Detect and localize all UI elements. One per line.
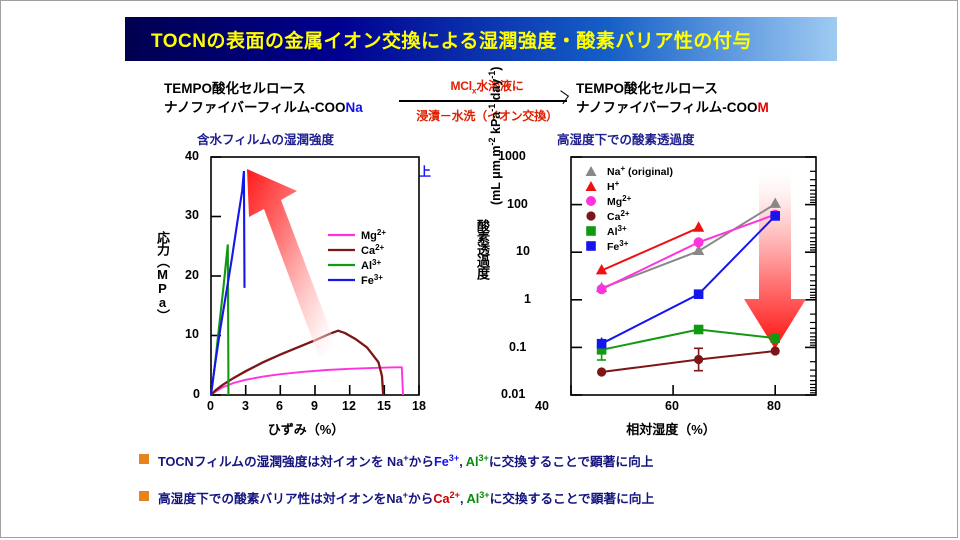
bullet-1-text: TOCNフィルムの湿潤強度は対イオンを Na+からFe3+, Al3+に交換する… (158, 451, 653, 470)
oxygen-xtick-60: 60 (665, 399, 679, 413)
wet-strength-ytick-20: 20 (185, 268, 199, 282)
wet-strength-xtick-12: 12 (342, 399, 356, 413)
bullet-2-ion2: Al (467, 492, 480, 506)
oxygen-ytick-10: 10 (516, 244, 530, 258)
wet-strength-chart-heading: 含水フィルムの湿潤強度 (197, 129, 334, 148)
bullet-1-ion1: Fe (434, 455, 449, 469)
bullet-1-pre: TOCNフィルムの湿潤強度は対イオンを Na (158, 455, 403, 469)
bullet-2-pre: 高湿度下での酸素バリア性は対イオンをNa (158, 492, 403, 506)
bullet-1-ion2-sup: 3+ (478, 453, 488, 463)
bullet-item-1: TOCNフィルムの湿潤強度は対イオンを Na+からFe3+, Al3+に交換する… (139, 451, 653, 470)
scheme-product-line2: ナノファイバーフィルム-COOM (576, 98, 769, 117)
wet-strength-xtick-9: 9 (311, 399, 318, 413)
bullet-1-mid: から (409, 455, 434, 469)
bullet-2-mid: から (408, 492, 433, 506)
wet-strength-xtick-3: 3 (242, 399, 249, 413)
legend-label-na: Na+ (original) (607, 164, 673, 178)
oxygen-ytick-0.01: 0.01 (501, 387, 525, 401)
oxygen-ytick-0.1: 0.1 (509, 340, 526, 354)
bullet-square-icon (139, 454, 149, 464)
bullet-1-sep: , (459, 455, 466, 469)
bullet-item-2: 高湿度下での酸素バリア性は対イオンをNa+からCa2+, Al3+に交換すること… (139, 488, 654, 507)
bullet-2-ion1-sup: 2+ (450, 490, 460, 500)
oxygen-x-axis-title: 相対湿度（%） (571, 419, 771, 438)
wet-strength-ytick-40: 40 (185, 149, 199, 163)
bullet-square-icon (139, 491, 149, 501)
wet-strength-xtick-6: 6 (276, 399, 283, 413)
oxygen-permeability-chart: Na+ (original) H+ Mg2+ Ca2+ Al3+ Fe3+ (531, 147, 831, 417)
wet-strength-xtick-18: 18 (412, 399, 426, 413)
bullet-1-post: に交換することで顕著に向上 (489, 455, 654, 469)
wet-strength-ytick-30: 30 (185, 208, 199, 222)
wet-strength-x-axis-title: ひずみ（%） (206, 419, 406, 438)
wet-strength-ytick-10: 10 (185, 327, 199, 341)
bullet-1-ion2: Al (466, 455, 479, 469)
bullet-2-ion1: Ca (433, 492, 449, 506)
bullet-2-text: 高湿度下での酸素バリア性は対イオンをNa+からCa2+, Al3+に交換すること… (158, 488, 654, 507)
oxygen-ytick-100: 100 (507, 197, 528, 211)
scheme-product-line1: TEMPO酸化セルロース (576, 79, 769, 98)
oxygen-xtick-40: 40 (535, 399, 549, 413)
oxygen-xtick-80: 80 (767, 399, 781, 413)
scheme-reactant: TEMPO酸化セルロース ナノファイバーフィルム-COONa (164, 79, 363, 117)
slide-title-bar: TOCNの表面の金属イオン交換による湿潤強度・酸素バリア性の付与 (125, 17, 837, 61)
wet-strength-chart: Mg2+ Ca2+ Al3+ Fe3+ (169, 147, 429, 417)
slide-canvas: TOCNの表面の金属イオン交換による湿潤強度・酸素バリア性の付与 TEMPO酸化… (0, 0, 958, 538)
oxygen-y-axis-title-line2: (mL μm m-2 kPa-1 day-1) (487, 67, 503, 205)
scheme-reactant-line2: ナノファイバーフィルム-COONa (164, 98, 363, 117)
bullet-2-post: に交換することで顕著に向上 (490, 492, 655, 506)
scheme-reactant-line1: TEMPO酸化セルロース (164, 79, 363, 98)
scheme-product-formula: ナノファイバーフィルム-COO (576, 100, 757, 115)
scheme-reactant-counterion: Na (345, 100, 362, 115)
scheme-reactant-formula: ナノファイバーフィルム-COO (164, 100, 345, 115)
bullet-2-ion2-sup: 3+ (479, 490, 489, 500)
oxygen-y-axis-title-line1: 酸素透過度 (473, 219, 492, 279)
wet-strength-xtick-15: 15 (377, 399, 391, 413)
scheme-product-counterion: M (757, 100, 768, 115)
oxygen-ytick-1000: 1000 (498, 149, 526, 163)
page-title: TOCNの表面の金属イオン交換による湿潤強度・酸素バリア性の付与 (125, 26, 752, 53)
wet-strength-ytick-0: 0 (193, 387, 200, 401)
bullet-1-ion1-sup: 3+ (449, 453, 459, 463)
oxygen-ytick-1: 1 (524, 292, 531, 306)
wet-strength-xtick-0: 0 (207, 399, 214, 413)
oxygen-chart-heading: 高湿度下での酸素透過度 (557, 129, 695, 148)
scheme-product: TEMPO酸化セルロース ナノファイバーフィルム-COOM (576, 79, 769, 117)
bullet-2-sep: , (460, 492, 467, 506)
